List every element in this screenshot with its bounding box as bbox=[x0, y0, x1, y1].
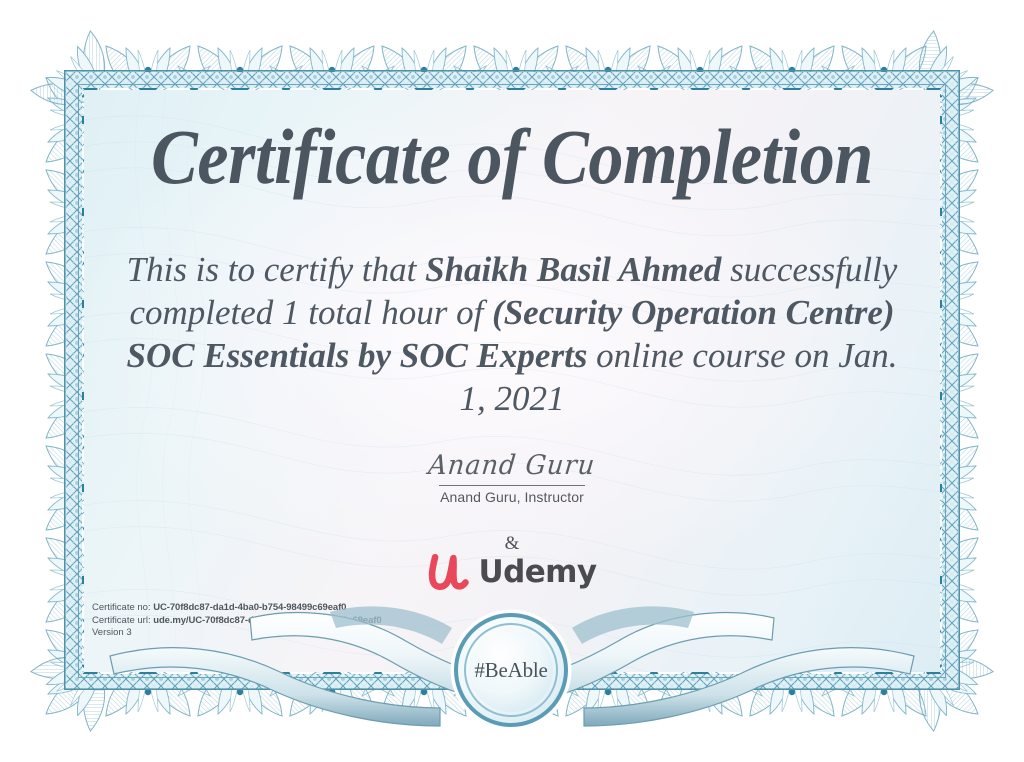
udemy-u-icon bbox=[428, 552, 470, 592]
certificate: Certificate of Completion This is to cer… bbox=[0, 0, 1024, 762]
certificate-url-label: Certificate url: bbox=[92, 615, 151, 626]
udemy-logo: Udemy bbox=[84, 552, 940, 592]
instructor-signature: Anand Guru bbox=[427, 450, 597, 482]
recipient-name: Shaikh Basil Ahmed bbox=[425, 250, 721, 289]
body-lead: This is to certify that bbox=[127, 250, 417, 289]
seal-hashtag: #BeAble bbox=[455, 614, 567, 726]
certificate-body: This is to certify that Shaikh Basil Ahm… bbox=[112, 248, 912, 420]
seal-badge: #BeAble bbox=[455, 614, 567, 726]
certificate-number-row: Certificate no: UC-70f8dc87-da1d-4ba0-b7… bbox=[92, 602, 382, 615]
signature-block: Anand Guru Anand Guru, Instructor bbox=[84, 450, 940, 505]
certificate-url-row: Certificate url: ude.my/UC-70f8dc87-da1d… bbox=[92, 615, 382, 628]
instructor-caption: Anand Guru, Instructor bbox=[84, 489, 940, 505]
certificate-content: Certificate of Completion This is to cer… bbox=[84, 90, 940, 672]
certificate-meta: Certificate no: UC-70f8dc87-da1d-4ba0-b7… bbox=[92, 602, 382, 640]
body-trail: online course on bbox=[596, 336, 829, 375]
certificate-url-value[interactable]: ude.my/UC-70f8dc87-da1d-4ba0-b754-98499c… bbox=[153, 615, 381, 626]
certificate-number-value: UC-70f8dc87-da1d-4ba0-b754-98499c69eaf0 bbox=[153, 602, 346, 613]
certificate-version: Version 3 bbox=[92, 627, 382, 640]
udemy-wordmark: Udemy bbox=[479, 554, 597, 590]
signature-rule bbox=[439, 485, 585, 486]
certificate-title: Certificate of Completion bbox=[127, 112, 897, 202]
certificate-number-label: Certificate no: bbox=[92, 602, 151, 613]
